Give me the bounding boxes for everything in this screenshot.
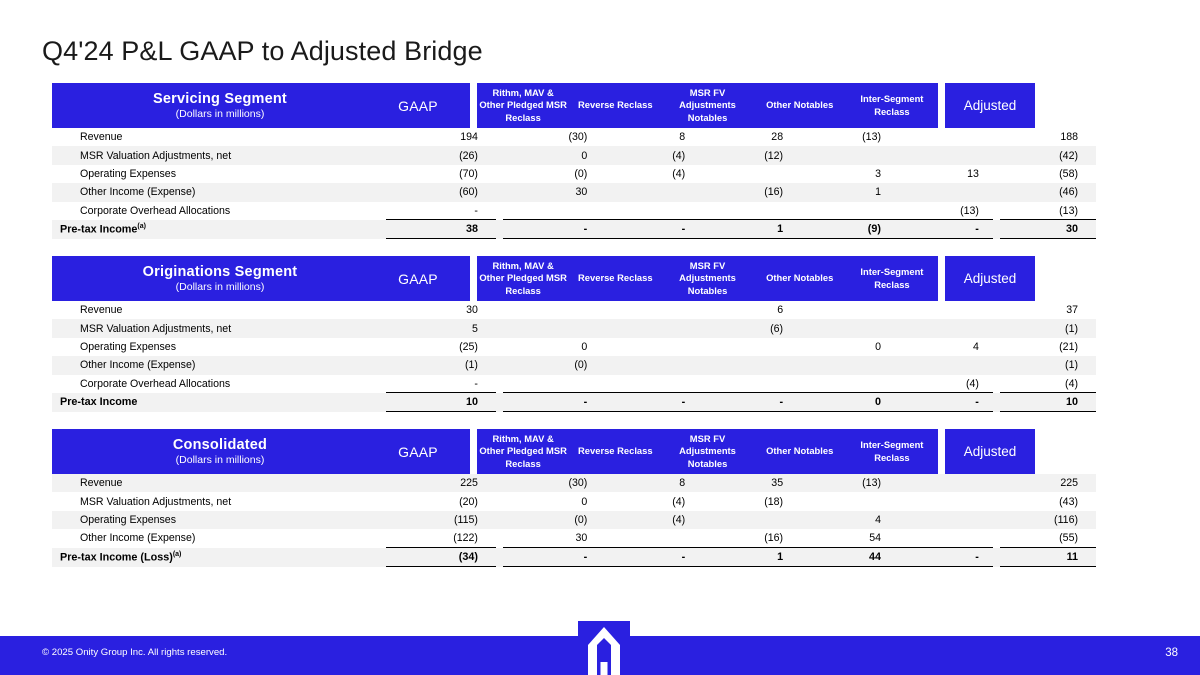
cell-adjustment-3	[797, 301, 895, 319]
cell-adjustment-4	[895, 356, 993, 374]
cell-gaap: (60)	[386, 183, 496, 201]
total-cell-adjusted: 11	[1000, 548, 1096, 567]
cell-adjustment-4	[895, 146, 993, 164]
header-block-servicing: Servicing Segment(Dollars in millions)GA…	[52, 83, 470, 128]
cell-adjustment-0: 0	[503, 146, 601, 164]
total-label-text: Pre-tax Income	[60, 224, 137, 236]
total-cell-adjustment-1: -	[601, 548, 699, 567]
column-gap	[993, 492, 1000, 510]
column-header-adjustment-2: MSR FV Adjustments Notables	[661, 433, 753, 469]
column-gap	[993, 301, 1000, 319]
cell-adjustment-2	[699, 202, 797, 220]
cell-adjustment-1: (4)	[601, 146, 699, 164]
cell-adjustment-1	[601, 529, 699, 547]
column-header-adjustment-1: Reverse Reclass	[569, 272, 661, 284]
row-label: Corporate Overhead Allocations	[52, 202, 386, 220]
column-gap	[993, 375, 1000, 393]
cell-adjustment-4	[895, 128, 993, 146]
cell-adjusted: (116)	[1000, 511, 1096, 529]
column-header-adjusted: Adjusted	[945, 271, 1035, 286]
cell-adjustment-2: (16)	[699, 529, 797, 547]
total-cell-adjustment-1: -	[601, 220, 699, 239]
cell-adjusted: (58)	[1000, 165, 1096, 183]
cell-adjustment-1	[601, 301, 699, 319]
total-cell-adjustment-0: -	[503, 393, 601, 412]
header-block-adjustments-consolidated: Rithm, MAV & Other Pledged MSR ReclassRe…	[477, 429, 938, 474]
cell-adjustment-1	[601, 356, 699, 374]
footnote-marker: (a)	[173, 551, 182, 558]
column-header-adjustment-4: Inter-Segment Reclass	[846, 439, 938, 463]
cell-adjustment-3	[797, 146, 895, 164]
row-label: MSR Valuation Adjustments, net	[52, 146, 386, 164]
cell-gaap: (122)	[386, 529, 496, 547]
total-cell-adjustment-1: -	[601, 393, 699, 412]
cell-adjustment-0	[503, 319, 601, 337]
column-gap	[496, 548, 503, 567]
column-header-gaap: GAAP	[366, 444, 470, 460]
segment-title: Originations Segment	[74, 263, 366, 281]
cell-gaap: (70)	[386, 165, 496, 183]
column-header-adjustment-1: Reverse Reclass	[569, 99, 661, 111]
table-row: Corporate Overhead Allocations-(4)(4)	[52, 375, 1096, 393]
cell-adjustment-0: (0)	[503, 165, 601, 183]
row-label: Other Income (Expense)	[52, 356, 386, 374]
total-cell-adjustment-4: -	[895, 393, 993, 412]
data-grid-servicing: Revenue194(30)828(13)188MSR Valuation Ad…	[52, 128, 1096, 239]
cell-adjustment-4	[895, 319, 993, 337]
cell-adjusted: (1)	[1000, 319, 1096, 337]
cell-adjustment-1: (4)	[601, 492, 699, 510]
column-header-adjustment-0: Rithm, MAV & Other Pledged MSR Reclass	[477, 260, 569, 296]
total-cell-adjusted: 10	[1000, 393, 1096, 412]
column-header-gaap: GAAP	[366, 98, 470, 114]
total-cell-gaap: 10	[386, 393, 496, 412]
column-gap	[496, 474, 503, 492]
cell-adjustment-2: 35	[699, 474, 797, 492]
column-gap	[993, 146, 1000, 164]
cell-adjustment-3: (13)	[797, 128, 895, 146]
segment-title: Servicing Segment	[74, 90, 366, 108]
cell-adjustment-2: (6)	[699, 319, 797, 337]
row-label: Operating Expenses	[52, 165, 386, 183]
cell-adjusted: (13)	[1000, 202, 1096, 220]
cell-gaap: (26)	[386, 146, 496, 164]
table-row: Operating Expenses(115)(0)(4)4(116)	[52, 511, 1096, 529]
cell-adjustment-4	[895, 301, 993, 319]
table-row: Revenue194(30)828(13)188	[52, 128, 1096, 146]
cell-adjustment-1: (4)	[601, 165, 699, 183]
cell-adjustment-1	[601, 338, 699, 356]
cell-adjustment-2: 28	[699, 128, 797, 146]
cell-adjustment-2: (16)	[699, 183, 797, 201]
cell-adjustment-1: 8	[601, 128, 699, 146]
cell-gaap: (1)	[386, 356, 496, 374]
table-row: MSR Valuation Adjustments, net5(6)(1)	[52, 319, 1096, 337]
cell-adjustment-0: 30	[503, 529, 601, 547]
total-row-label: Pre-tax Income	[52, 393, 386, 412]
table-total-row: Pre-tax Income10---0-10	[52, 393, 1096, 412]
column-header-adjustment-3: Other Notables	[754, 445, 846, 457]
cell-adjustment-4	[895, 529, 993, 547]
column-gap	[993, 220, 1000, 239]
total-cell-adjustment-2: 1	[699, 220, 797, 239]
column-header-adjustment-4: Inter-Segment Reclass	[846, 93, 938, 117]
column-header-adjustment-2: MSR FV Adjustments Notables	[661, 87, 753, 123]
cell-adjustment-4	[895, 474, 993, 492]
cell-adjustment-0: (0)	[503, 356, 601, 374]
total-cell-adjustment-0: -	[503, 548, 601, 567]
column-gap	[496, 183, 503, 201]
segment-title: Consolidated	[74, 436, 366, 454]
cell-adjustment-2	[699, 165, 797, 183]
cell-adjustment-3	[797, 319, 895, 337]
row-label: Revenue	[52, 301, 386, 319]
cell-adjustment-3	[797, 202, 895, 220]
row-label: Corporate Overhead Allocations	[52, 375, 386, 393]
cell-adjustment-1: (4)	[601, 511, 699, 529]
column-header-adjusted: Adjusted	[945, 444, 1035, 459]
segment-title-wrap: Servicing Segment(Dollars in millions)	[52, 90, 366, 122]
column-header-adjusted: Adjusted	[945, 98, 1035, 113]
cell-adjusted: (21)	[1000, 338, 1096, 356]
table-row: Revenue30637	[52, 301, 1096, 319]
total-cell-adjustment-3: (9)	[797, 220, 895, 239]
cell-adjustment-4	[895, 492, 993, 510]
cell-adjustment-1	[601, 183, 699, 201]
cell-adjustment-4: 4	[895, 338, 993, 356]
cell-adjustment-0: (0)	[503, 511, 601, 529]
cell-adjustment-3: 4	[797, 511, 895, 529]
cell-adjustment-0: (30)	[503, 128, 601, 146]
cell-adjustment-4: (4)	[895, 375, 993, 393]
cell-gaap: -	[386, 202, 496, 220]
column-header-adjustment-2: MSR FV Adjustments Notables	[661, 260, 753, 296]
cell-adjustment-2: (18)	[699, 492, 797, 510]
column-header-adjustment-0: Rithm, MAV & Other Pledged MSR Reclass	[477, 87, 569, 123]
total-cell-adjustment-2: 1	[699, 548, 797, 567]
header-block-adjusted-consolidated: Adjusted	[945, 429, 1035, 474]
column-gap	[496, 202, 503, 220]
cell-adjustment-1: 8	[601, 474, 699, 492]
cell-adjustment-0: (30)	[503, 474, 601, 492]
cell-gaap: 5	[386, 319, 496, 337]
column-gap	[993, 183, 1000, 201]
column-gap	[993, 128, 1000, 146]
cell-adjustment-2	[699, 356, 797, 374]
row-label: MSR Valuation Adjustments, net	[52, 492, 386, 510]
cell-adjustment-2: 6	[699, 301, 797, 319]
cell-adjustment-0	[503, 202, 601, 220]
row-label: Operating Expenses	[52, 511, 386, 529]
cell-gaap: -	[386, 375, 496, 393]
cell-adjustment-3: 54	[797, 529, 895, 547]
header-block-adjusted-servicing: Adjusted	[945, 83, 1035, 128]
cell-gaap: (20)	[386, 492, 496, 510]
column-gap	[993, 393, 1000, 412]
cell-adjusted: 225	[1000, 474, 1096, 492]
total-cell-adjustment-4: -	[895, 220, 993, 239]
column-gap	[496, 356, 503, 374]
column-gap	[993, 165, 1000, 183]
cell-gaap: (115)	[386, 511, 496, 529]
header-block-consolidated: Consolidated(Dollars in millions)GAAP	[52, 429, 470, 474]
header-block-originations: Originations Segment(Dollars in millions…	[52, 256, 470, 301]
data-grid-consolidated: Revenue225(30)835(13)225MSR Valuation Ad…	[52, 474, 1096, 567]
cell-adjustment-2	[699, 511, 797, 529]
total-label-text: Pre-tax Income	[60, 396, 137, 408]
cell-adjustment-3: 3	[797, 165, 895, 183]
column-gap	[993, 529, 1000, 547]
cell-adjusted: (55)	[1000, 529, 1096, 547]
column-gap	[496, 529, 503, 547]
footnote-marker: (a)	[137, 223, 146, 230]
segment-subtitle: (Dollars in millions)	[74, 454, 366, 468]
cell-adjustment-1	[601, 319, 699, 337]
cell-adjustment-3	[797, 492, 895, 510]
column-header-gaap: GAAP	[366, 271, 470, 287]
cell-adjustment-3	[797, 375, 895, 393]
cell-adjustment-2: (12)	[699, 146, 797, 164]
row-label: MSR Valuation Adjustments, net	[52, 319, 386, 337]
table-row: Operating Expenses(70)(0)(4)313(58)	[52, 165, 1096, 183]
segment-title-wrap: Originations Segment(Dollars in millions…	[52, 263, 366, 295]
row-label: Revenue	[52, 474, 386, 492]
table-row: MSR Valuation Adjustments, net(20)0(4)(1…	[52, 492, 1096, 510]
cell-adjusted: 188	[1000, 128, 1096, 146]
bridge-table-servicing: Servicing Segment(Dollars in millions)GA…	[52, 83, 1096, 239]
column-gap	[993, 319, 1000, 337]
total-row-label: Pre-tax Income (Loss)(a)	[52, 548, 386, 567]
column-gap	[993, 511, 1000, 529]
cell-adjusted: (46)	[1000, 183, 1096, 201]
cell-adjustment-3	[797, 356, 895, 374]
column-header-adjustment-3: Other Notables	[754, 272, 846, 284]
table-row: Other Income (Expense)(1)(0)(1)	[52, 356, 1096, 374]
cell-adjustment-0: 30	[503, 183, 601, 201]
header-block-adjusted-originations: Adjusted	[945, 256, 1035, 301]
total-label-text: Pre-tax Income (Loss)	[60, 551, 173, 563]
total-cell-adjustment-4: -	[895, 548, 993, 567]
column-gap	[993, 548, 1000, 567]
cell-adjusted: (43)	[1000, 492, 1096, 510]
total-cell-adjustment-3: 0	[797, 393, 895, 412]
table-total-row: Pre-tax Income (Loss)(a)(34)--144-11	[52, 548, 1096, 567]
column-gap	[496, 301, 503, 319]
cell-gaap: 194	[386, 128, 496, 146]
column-gap	[496, 220, 503, 239]
cell-adjustment-3: 1	[797, 183, 895, 201]
cell-adjusted: 37	[1000, 301, 1096, 319]
column-gap	[993, 356, 1000, 374]
column-gap	[496, 511, 503, 529]
cell-adjustment-2	[699, 338, 797, 356]
bridge-table-consolidated: Consolidated(Dollars in millions)GAAPRit…	[52, 429, 1096, 567]
column-gap	[496, 492, 503, 510]
table-row: Corporate Overhead Allocations-(13)(13)	[52, 202, 1096, 220]
cell-gaap: 30	[386, 301, 496, 319]
column-gap	[496, 338, 503, 356]
table-row: Revenue225(30)835(13)225	[52, 474, 1096, 492]
cell-adjustment-4	[895, 183, 993, 201]
segment-subtitle: (Dollars in millions)	[74, 108, 366, 122]
header-block-adjustments-originations: Rithm, MAV & Other Pledged MSR ReclassRe…	[477, 256, 938, 301]
cell-adjustment-2	[699, 375, 797, 393]
row-label: Other Income (Expense)	[52, 183, 386, 201]
total-cell-adjusted: 30	[1000, 220, 1096, 239]
total-row-label: Pre-tax Income(a)	[52, 220, 386, 239]
total-cell-adjustment-0: -	[503, 220, 601, 239]
cell-adjustment-3: (13)	[797, 474, 895, 492]
total-cell-adjustment-3: 44	[797, 548, 895, 567]
segment-title-wrap: Consolidated(Dollars in millions)	[52, 436, 366, 468]
cell-adjustment-4	[895, 511, 993, 529]
onity-house-logo	[578, 621, 630, 675]
segment-subtitle: (Dollars in millions)	[74, 281, 366, 295]
cell-gaap: (25)	[386, 338, 496, 356]
cell-adjustment-1	[601, 202, 699, 220]
column-header-adjustment-1: Reverse Reclass	[569, 445, 661, 457]
column-gap	[496, 319, 503, 337]
cell-adjustment-0	[503, 301, 601, 319]
cell-adjustment-3: 0	[797, 338, 895, 356]
table-row: Other Income (Expense)(122)30(16)54(55)	[52, 529, 1096, 547]
column-gap	[993, 474, 1000, 492]
column-header-adjustment-0: Rithm, MAV & Other Pledged MSR Reclass	[477, 433, 569, 469]
cell-gaap: 225	[386, 474, 496, 492]
table-total-row: Pre-tax Income(a)38--1(9)-30	[52, 220, 1096, 239]
column-gap	[496, 393, 503, 412]
cell-adjusted: (4)	[1000, 375, 1096, 393]
page-number: 38	[1165, 647, 1178, 659]
column-header-adjustment-3: Other Notables	[754, 99, 846, 111]
row-label: Operating Expenses	[52, 338, 386, 356]
cell-adjustment-4: 13	[895, 165, 993, 183]
column-gap	[993, 202, 1000, 220]
total-cell-adjustment-2: -	[699, 393, 797, 412]
cell-adjustment-4: (13)	[895, 202, 993, 220]
copyright-text: © 2025 Onity Group Inc. All rights reser…	[42, 647, 227, 658]
bridge-table-originations: Originations Segment(Dollars in millions…	[52, 256, 1096, 412]
total-cell-gaap: 38	[386, 220, 496, 239]
column-gap	[496, 165, 503, 183]
table-row: Operating Expenses(25)004(21)	[52, 338, 1096, 356]
column-gap	[496, 128, 503, 146]
table-row: Other Income (Expense)(60)30(16)1(46)	[52, 183, 1096, 201]
row-label: Other Income (Expense)	[52, 529, 386, 547]
column-header-adjustment-4: Inter-Segment Reclass	[846, 266, 938, 290]
column-gap	[496, 375, 503, 393]
cell-adjustment-1	[601, 375, 699, 393]
data-grid-originations: Revenue30637MSR Valuation Adjustments, n…	[52, 301, 1096, 412]
cell-adjusted: (1)	[1000, 356, 1096, 374]
cell-adjusted: (42)	[1000, 146, 1096, 164]
column-gap	[496, 146, 503, 164]
table-row: MSR Valuation Adjustments, net(26)0(4)(1…	[52, 146, 1096, 164]
cell-adjustment-0: 0	[503, 492, 601, 510]
column-gap	[993, 338, 1000, 356]
cell-adjustment-0	[503, 375, 601, 393]
header-block-adjustments-servicing: Rithm, MAV & Other Pledged MSR ReclassRe…	[477, 83, 938, 128]
row-label: Revenue	[52, 128, 386, 146]
total-cell-gaap: (34)	[386, 548, 496, 567]
page-title: Q4'24 P&L GAAP to Adjusted Bridge	[42, 36, 483, 67]
cell-adjustment-0: 0	[503, 338, 601, 356]
